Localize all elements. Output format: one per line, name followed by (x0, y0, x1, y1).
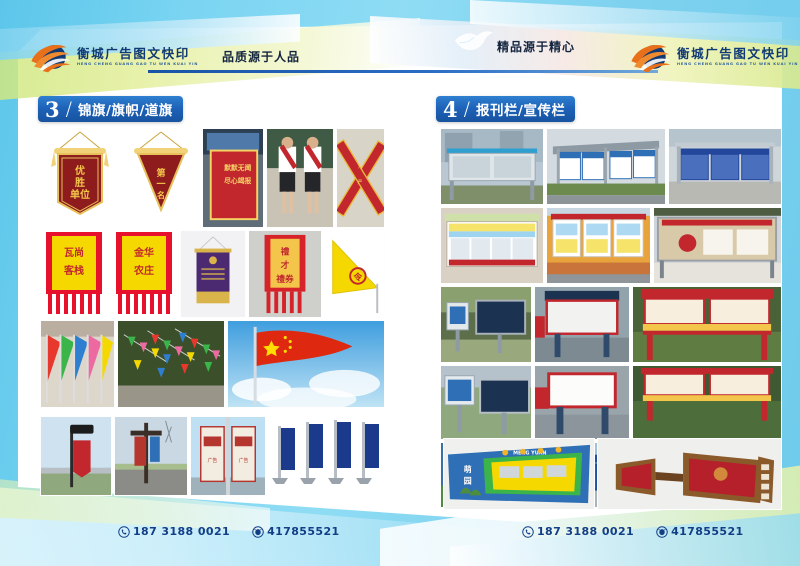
gallery-item[interactable]: 街道路灯道旗 (114, 416, 188, 496)
gallery-item[interactable]: 黄墙三格宣传栏 (546, 207, 651, 284)
gallery-item[interactable]: 绶带礼仪小姐 (266, 128, 334, 228)
svg-text:农庄: 农庄 (133, 264, 154, 277)
svg-text:金华: 金华 (133, 246, 154, 259)
company-name-en: HENG CHENG GUANG GAO TU WEN KUAI YIN (77, 63, 198, 67)
section-label: 报刊栏/宣传栏 (476, 99, 565, 119)
svg-text:第: 第 (156, 167, 165, 179)
svg-text:尽心竭报: 尽心竭报 (224, 176, 251, 185)
gallery-item[interactable]: 蓝色六格宣传栏 广场 (668, 128, 782, 205)
qq-icon (656, 526, 668, 538)
gallery-item[interactable]: 双柱四格宣传栏 草地 (546, 128, 666, 205)
gallery-item[interactable]: 金华 农庄 金华农庄 黄底红边旗 (110, 230, 178, 318)
svg-text:一: 一 (156, 180, 165, 190)
qq-icon (252, 526, 264, 538)
gallery-item[interactable]: 为 严 交叉绶带 红色礼仪带 (336, 128, 385, 228)
gallery-item[interactable]: 红色道旗 路灯杆 (40, 416, 112, 496)
swoosh-globe-logo-icon (30, 40, 72, 74)
svg-text:胜: 胜 (74, 176, 85, 189)
gallery-item[interactable]: 紫色证书锦旗 (180, 230, 246, 318)
phone-contact: 187 3188 0021 (118, 525, 230, 538)
phone-number: 187 3188 0021 (133, 525, 230, 538)
svg-text:才: 才 (281, 259, 290, 271)
svg-text:禮券: 禮券 (276, 273, 294, 285)
svg-text:单位: 单位 (70, 188, 90, 201)
gallery-item[interactable]: 默默无闻 尽心竭报 赠 默默无闻不求回报 尽心竭报 时刻关怀 锦旗 (202, 128, 264, 228)
section-tab-4: 4 / 报刊栏/宣传栏 (436, 96, 575, 122)
gallery-item[interactable]: 五星红旗 蓝天白云 (227, 320, 385, 408)
svg-text:萌: 萌 (464, 464, 472, 474)
qq-number: 417855521 (267, 525, 339, 538)
svg-text:令: 令 (353, 271, 363, 283)
header-divider-rule (148, 70, 658, 73)
gallery-item[interactable]: 深蓝古典式阅报栏 (534, 286, 630, 363)
gallery-item[interactable]: 萌 园 MENG YUAN 萌园 MENG YUAN 幼儿园宣传栏 (443, 438, 595, 510)
qq-contact: 417855521 (252, 525, 339, 538)
svg-text:禮: 禮 (281, 245, 290, 257)
gallery-item[interactable]: 彩色三角串旗 (117, 320, 225, 408)
phone-contact: 187 3188 0021 (522, 525, 634, 538)
company-name-cn: 衡城广告图文快印 (677, 48, 798, 61)
company-name-en: HENG CHENG GUANG GAO TU WEN KUAI YIN (677, 63, 798, 67)
section-tab-3: 3 / 锦旗/旗帜/道旗 (38, 96, 183, 122)
gallery-item[interactable]: 红色中式宣传栏 (632, 286, 782, 363)
section-3-gallery: 优 胜 单位 优胜单位锦旗 第 一 名 第一名锦旗 (40, 128, 385, 508)
slogan-left: 品质源于人品 (222, 48, 300, 65)
section-separator: / (66, 100, 72, 119)
gallery-item[interactable]: 校园健康知识宣传栏 (440, 207, 544, 284)
svg-text:广告: 广告 (208, 457, 218, 464)
company-logo-right: 衡城广告图文快印 HENG CHENG GUANG GAO TU WEN KUA… (630, 40, 798, 74)
gallery-item[interactable]: 广告 广告 成对竖式道旗 (190, 416, 266, 496)
gallery-item[interactable]: 不锈钢宣传栏 小区 (440, 128, 544, 205)
svg-text:严: 严 (358, 180, 363, 186)
gallery-item[interactable]: 长幅文化墙宣传栏 (653, 207, 782, 284)
company-name-cn: 衡城广告图文快印 (77, 48, 198, 61)
gallery-item[interactable]: 红框双格阅报栏 绿篱 (534, 365, 630, 440)
svg-text:赠: 赠 (247, 164, 251, 169)
section-number: 3 (45, 99, 60, 120)
gallery-item[interactable]: 蓝色刀旗四支 (268, 416, 385, 496)
swoosh-globe-logo-icon (630, 40, 672, 74)
dove-icon (452, 28, 496, 54)
gallery-item[interactable]: 彩色立旗排 (红绿蓝粉黄) (40, 320, 115, 408)
gallery-item[interactable]: 优 胜 单位 优胜单位锦旗 (40, 128, 120, 228)
svg-text:广告: 广告 (239, 457, 249, 464)
gallery-item[interactable]: 令 令字黄色三角旗 (324, 230, 385, 318)
company-logo-left: 衡城广告图文快印 HENG CHENG GUANG GAO TU WEN KUA… (30, 40, 198, 74)
gallery-item[interactable]: 禮 才 禮券 礼仪锦旗 红白条 (248, 230, 322, 318)
qq-number: 417855521 (671, 525, 743, 538)
gallery-item[interactable]: 瓦尚 客栈 瓦尚客栈 黄底红边旗 (40, 230, 108, 318)
svg-text:客栈: 客栈 (63, 264, 84, 277)
gallery-item[interactable]: 蓝顶单格宣传栏 (440, 365, 532, 440)
contact-block-right: 187 3188 0021 417855521 (522, 525, 744, 538)
svg-text:为: 为 (358, 163, 363, 170)
section-separator: / (464, 100, 470, 119)
svg-text:优: 优 (75, 164, 85, 177)
phone-number: 187 3188 0021 (537, 525, 634, 538)
phone-icon (118, 526, 130, 538)
svg-text:园: 园 (464, 477, 472, 486)
section-number: 4 (443, 99, 458, 120)
gallery-item[interactable]: 木纹中式双开宣传栏 (597, 438, 782, 510)
svg-text:名: 名 (157, 190, 165, 200)
gallery-item[interactable]: 不锈钢立式报刊栏 (440, 286, 532, 363)
svg-text:瓦尚: 瓦尚 (64, 246, 84, 259)
qq-contact: 417855521 (656, 525, 743, 538)
gallery-item[interactable]: 第 一 名 第一名锦旗 (122, 128, 200, 228)
gallery-item[interactable]: 红色党建宣传栏 (632, 365, 782, 440)
contact-block-left: 187 3188 0021 417855521 (118, 525, 340, 538)
brochure-page: 衡城广告图文快印 HENG CHENG GUANG GAO TU WEN KUA… (0, 0, 800, 566)
slogan-right: 精品源于精心 (497, 38, 575, 55)
section-label: 锦旗/旗帜/道旗 (78, 99, 173, 119)
phone-icon (522, 526, 534, 538)
